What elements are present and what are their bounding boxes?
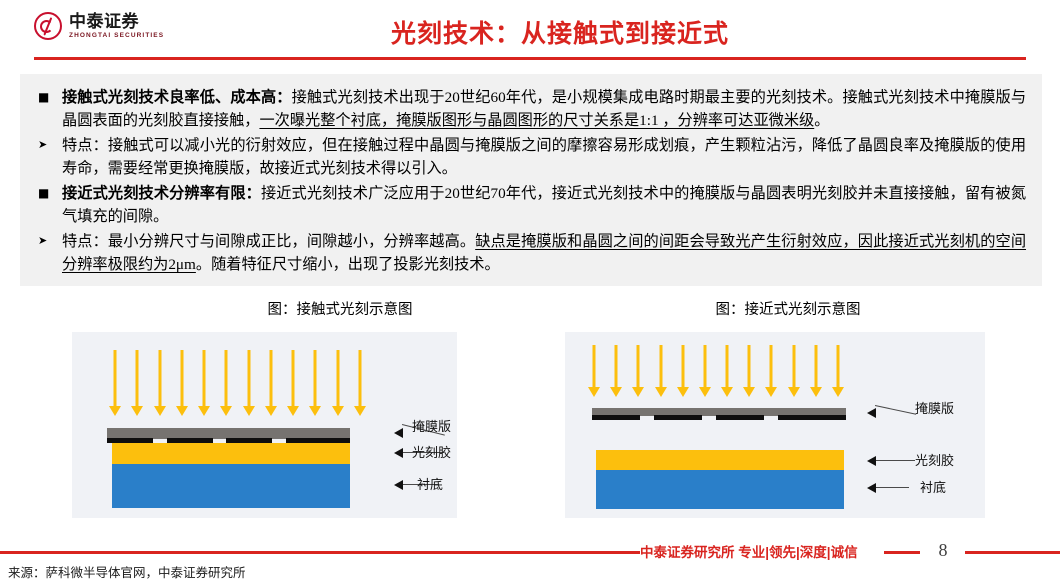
label-photoresist: 光刻胶 [915,450,954,469]
footer-dash [965,551,1060,554]
slide: 中泰证券 ZHONGTAI SECURITIES 光刻技术：从接触式到接近式 ■… [0,0,1060,588]
bullet-text: 特点：接触式可以减小光的衍射效应，但在接触过程中晶圆与掩膜版之间的摩擦容易形成划… [62,134,1026,180]
light-arrow-icon [789,345,799,389]
label-substrate: 衬底 [920,477,946,496]
bullet-text: 接近式光刻技术分辨率有限：接近式光刻技术广泛应用于20世纪70年代，接近式光刻技… [62,182,1026,228]
bullet-item: ■ 接近式光刻技术分辨率有限：接近式光刻技术广泛应用于20世纪70年代，接近式光… [38,182,1026,228]
light-arrow-icon [766,345,776,389]
bullet-text: 接触式光刻技术良率低、成本高：接触式光刻技术出现于20世纪60年代，是小规模集成… [62,86,1026,132]
footer-divider [0,551,640,554]
photoresist-leader-arrowhead [867,456,876,466]
mask-leader-arrowhead [867,408,876,418]
light-arrow-icon [355,350,365,408]
photoresist-leader-arrowhead [394,448,403,458]
light-arrow-icon [811,345,821,389]
bullet-marker-square-icon: ■ [38,182,62,204]
substrate-leader-line [875,487,909,488]
label-substrate: 衬底 [417,474,443,493]
bullet-body: 特点：接触式可以减小光的衍射效应，但在接触过程中晶圆与掩膜版之间的摩擦容易形成划… [62,137,1026,177]
figure-proximity-lithography: 掩膜版 光刻胶 衬底 [565,332,985,518]
light-arrow-icon [744,345,754,389]
figure-contact-lithography: 掩膜版 光刻胶 衬底 [72,332,457,518]
bullet-item: ➤ 特点：接触式可以减小光的衍射效应，但在接触过程中晶圆与掩膜版之间的摩擦容易形… [38,134,1026,180]
page-title: 光刻技术：从接触式到接近式 [0,14,1060,50]
substrate-leader-arrowhead [394,480,403,490]
light-arrow-icon [110,350,120,408]
bullet-marker-arrow-icon: ➤ [38,230,62,252]
label-photoresist: 光刻胶 [412,442,451,461]
light-arrow-icon [132,350,142,408]
bullet-item: ➤ 特点：最小分辨尺寸与间隙成正比，间隙越小，分辨率越高。缺点是掩膜版和晶圆之间… [38,230,1026,276]
slide-header: 中泰证券 ZHONGTAI SECURITIES 光刻技术：从接触式到接近式 [0,0,1060,62]
mask-leader-line [875,405,916,415]
page-number: 8 [925,540,961,561]
bullet-item: ■ 接触式光刻技术良率低、成本高：接触式光刻技术出现于20世纪60年代，是小规模… [38,86,1026,132]
photoresist-leader-line [875,460,915,461]
light-arrows-group [589,345,843,389]
light-arrows-group [110,350,365,408]
light-arrow-icon [177,350,187,408]
light-arrow-icon [611,345,621,389]
light-arrow-icon [722,345,732,389]
figure-caption-right: 图：接近式光刻示意图 [658,298,918,319]
light-arrow-icon [310,350,320,408]
photoresist-layer [112,443,350,464]
light-arrow-icon [266,350,276,408]
content-panel: ■ 接触式光刻技术良率低、成本高：接触式光刻技术出现于20世纪60年代，是小规模… [20,74,1042,286]
bullet-marker-square-icon: ■ [38,86,62,108]
photoresist-layer [596,450,844,470]
mask-pattern-segment [716,415,764,420]
bullet-tail: 。随着特征尺寸缩小，出现了投影光刻技术。 [196,256,500,273]
bullet-tail: 。 [814,112,829,129]
bullet-marker-arrow-icon: ➤ [38,134,62,156]
bullet-text: 特点：最小分辨尺寸与间隙成正比，间隙越小，分辨率越高。缺点是掩膜版和晶圆之间的间… [62,230,1026,276]
light-arrow-icon [333,350,343,408]
substrate-layer [596,470,844,509]
light-arrow-icon [199,350,209,408]
light-arrow-icon [244,350,254,408]
light-arrow-icon [700,345,710,389]
mask-pattern-segment [592,415,640,420]
bullet-lead: 接触式光刻技术良率低、成本高： [62,89,292,106]
label-mask: 掩膜版 [915,398,954,417]
mask-pattern-segment [778,415,846,420]
bullet-lead: 接近式光刻技术分辨率有限： [62,185,261,202]
light-arrow-icon [833,345,843,389]
label-mask: 掩膜版 [412,416,451,435]
light-arrow-icon [221,350,231,408]
bullet-underlined: 一次曝光整个衬底，掩膜版图形与晶圆图形的尺寸关系是1:1 ，分辨率可达亚微米级 [259,112,814,129]
mask-leader-arrowhead [394,428,403,438]
substrate-layer [112,464,350,508]
light-arrow-icon [678,345,688,389]
mask-pattern-segment [654,415,702,420]
figure-caption-left: 图：接触式光刻示意图 [210,298,470,319]
light-arrow-icon [633,345,643,389]
light-arrow-icon [288,350,298,408]
light-arrow-icon [155,350,165,408]
light-arrow-icon [589,345,599,389]
footer-dash [884,551,920,554]
light-arrow-icon [656,345,666,389]
footer-brand: 中泰证券研究所 专业|领先|深度|诚信 [640,541,858,561]
substrate-leader-arrowhead [867,483,876,493]
bullet-body: 特点：最小分辨尺寸与间隙成正比，间隙越小，分辨率越高。 [62,233,475,250]
source-note: 来源：萨科微半导体官网，中泰证券研究所 [8,562,246,581]
header-divider [34,57,1026,60]
